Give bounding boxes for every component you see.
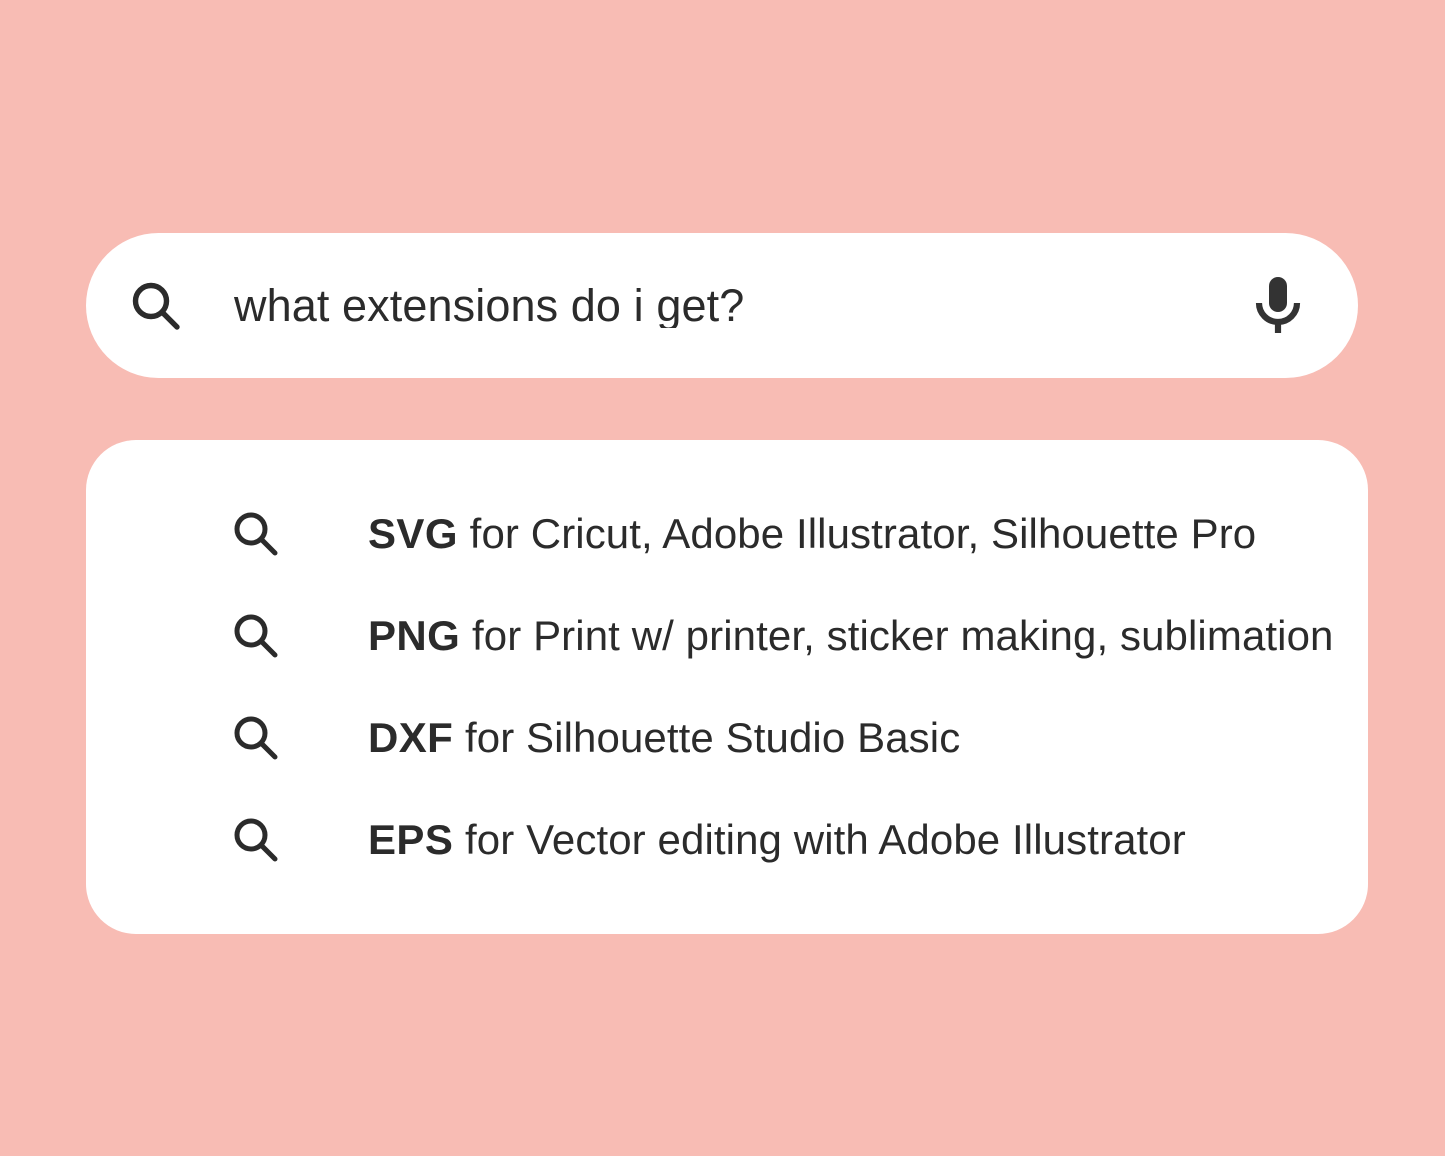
suggestion-description: for Vector editing with Adobe Illustrato… <box>453 816 1186 863</box>
suggestion-description: for Silhouette Studio Basic <box>453 714 960 761</box>
search-icon <box>232 612 280 660</box>
microphone-icon[interactable] <box>1252 275 1304 337</box>
suggestion-format: EPS <box>368 816 453 863</box>
suggestion-label: SVG for Cricut, Adobe Illustrator, Silho… <box>368 513 1256 555</box>
suggestion-format: SVG <box>368 510 458 557</box>
suggestion-label: PNG for Print w/ printer, sticker making… <box>368 615 1334 657</box>
search-icon <box>232 816 280 864</box>
page-canvas: what extensions do i get? SVG for Cricut… <box>0 0 1445 1156</box>
suggestion-item-dxf[interactable]: DXF for Silhouette Studio Basic <box>86 696 1368 780</box>
suggestion-description: for Print w/ printer, sticker making, su… <box>460 612 1333 659</box>
suggestion-item-png[interactable]: PNG for Print w/ printer, sticker making… <box>86 594 1368 678</box>
search-bar[interactable]: what extensions do i get? <box>86 233 1358 378</box>
suggestion-item-svg[interactable]: SVG for Cricut, Adobe Illustrator, Silho… <box>86 492 1368 576</box>
suggestion-format: PNG <box>368 612 460 659</box>
search-icon-wrap <box>130 280 182 332</box>
suggestion-description: for Cricut, Adobe Illustrator, Silhouett… <box>458 510 1256 557</box>
search-icon <box>232 714 280 762</box>
search-icon <box>130 280 182 332</box>
suggestion-format: DXF <box>368 714 453 761</box>
suggestion-label: DXF for Silhouette Studio Basic <box>368 717 960 759</box>
search-icon <box>232 510 280 558</box>
search-input[interactable]: what extensions do i get? <box>234 283 1252 328</box>
suggestion-label: EPS for Vector editing with Adobe Illust… <box>368 819 1186 861</box>
suggestion-item-eps[interactable]: EPS for Vector editing with Adobe Illust… <box>86 798 1368 882</box>
suggestions-card: SVG for Cricut, Adobe Illustrator, Silho… <box>86 440 1368 934</box>
